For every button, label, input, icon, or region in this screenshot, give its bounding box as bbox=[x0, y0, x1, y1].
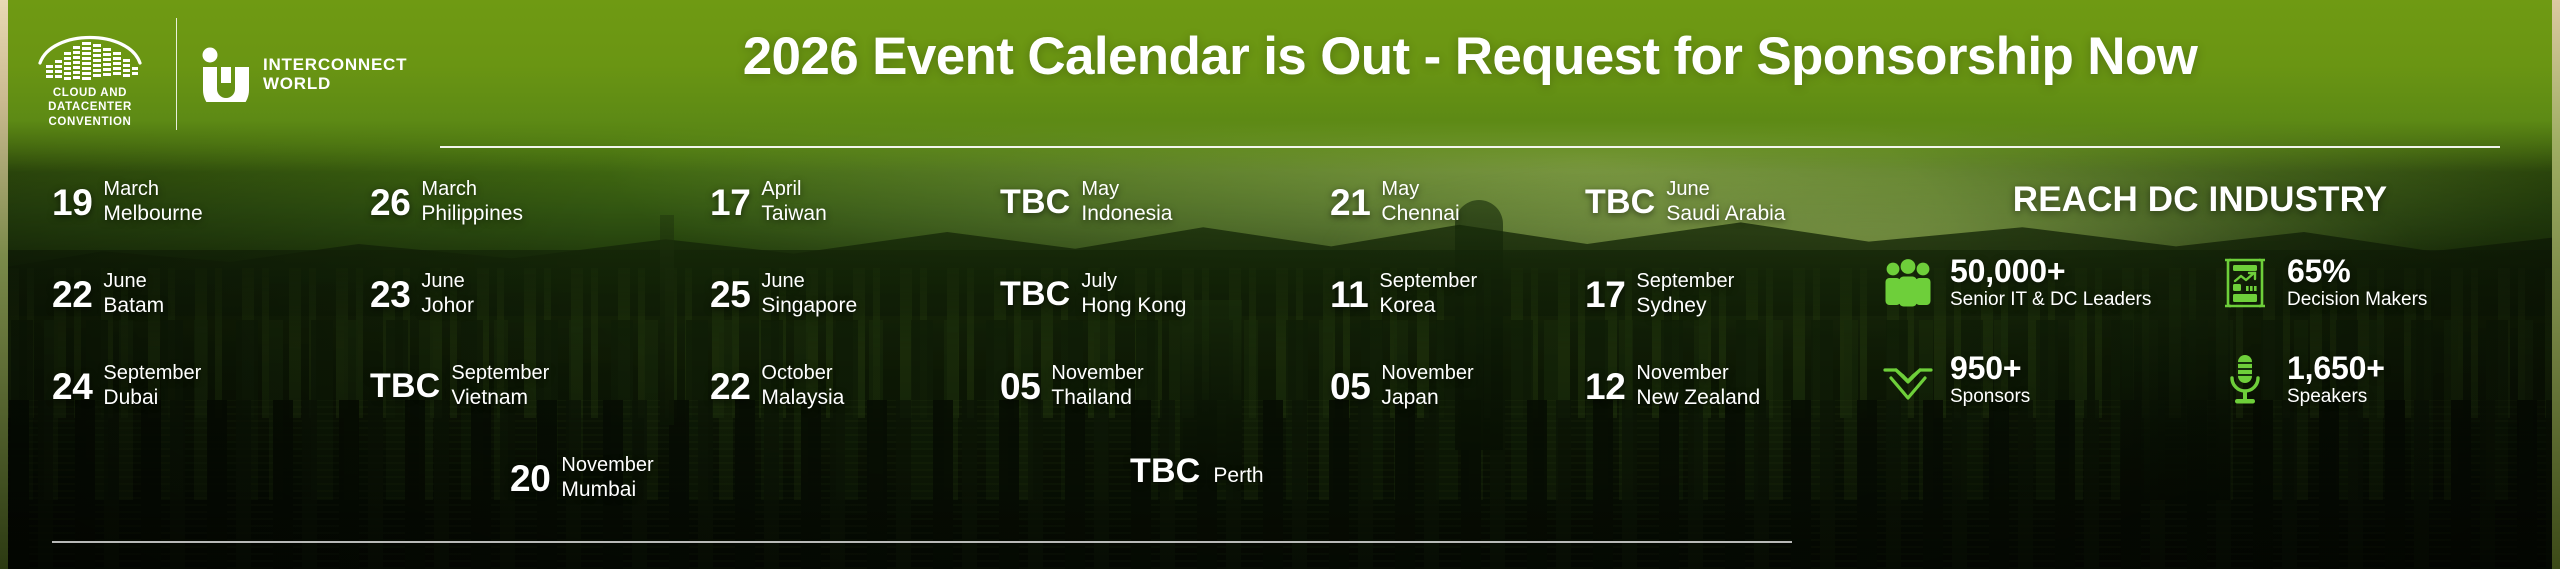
event-day: TBC bbox=[1585, 185, 1655, 219]
event-day: 11 bbox=[1330, 276, 1368, 313]
stat-value: 50,000+ bbox=[1950, 254, 2151, 289]
stat-label: Decision Makers bbox=[2287, 289, 2427, 312]
event-day: 05 bbox=[1000, 368, 1040, 405]
event-month: June bbox=[1666, 178, 1785, 202]
brand-lockup[interactable]: CLOUD AND DATACENTER CONVENTION INTERCON… bbox=[26, 18, 407, 130]
event-month: March bbox=[103, 178, 202, 202]
event-item[interactable]: 20 November Mumbai bbox=[510, 454, 654, 502]
event-month: June bbox=[761, 270, 857, 294]
event-day: 22 bbox=[710, 368, 750, 405]
calendar-row: 19 March Melbourne 26 March Philippines … bbox=[0, 178, 1860, 270]
event-day: 23 bbox=[370, 276, 410, 313]
calendar-row: 24 September Dubai TBC September Vietnam… bbox=[0, 362, 1860, 454]
event-item[interactable]: TBC July Hong Kong bbox=[1000, 270, 1186, 318]
event-item[interactable]: 22 June Batam bbox=[52, 270, 164, 318]
event-month: March bbox=[421, 178, 523, 202]
event-location: Indonesia bbox=[1081, 202, 1172, 227]
event-month: November bbox=[561, 454, 653, 478]
event-location: Taiwan bbox=[761, 202, 826, 227]
event-item[interactable]: 25 June Singapore bbox=[710, 270, 857, 318]
calendar-row: 20 November Mumbai TBC Perth bbox=[0, 454, 1860, 546]
event-day: 25 bbox=[710, 276, 750, 313]
event-item[interactable]: 19 March Melbourne bbox=[52, 178, 203, 226]
event-month: May bbox=[1081, 178, 1172, 202]
handshake-icon bbox=[1880, 357, 1936, 403]
event-calendar-grid: 19 March Melbourne 26 March Philippines … bbox=[0, 178, 1860, 546]
event-location: Sydney bbox=[1636, 294, 1734, 319]
event-day: TBC bbox=[370, 369, 440, 403]
event-day: TBC bbox=[1130, 454, 1200, 488]
event-day: TBC bbox=[1000, 185, 1070, 219]
event-item[interactable]: 23 June Johor bbox=[370, 270, 474, 318]
event-location: Melbourne bbox=[103, 202, 202, 227]
event-location: Dubai bbox=[103, 386, 201, 411]
cloud-datacenter-convention-logo[interactable]: CLOUD AND DATACENTER CONVENTION bbox=[26, 19, 154, 128]
stat-item: 1,650+ Speakers bbox=[2217, 351, 2520, 408]
event-location: Malaysia bbox=[761, 386, 844, 411]
stat-value: 950+ bbox=[1950, 351, 2030, 386]
event-location: Chennai bbox=[1381, 202, 1459, 227]
event-location: Japan bbox=[1381, 386, 1473, 411]
event-item[interactable]: TBC May Indonesia bbox=[1000, 178, 1172, 226]
stat-item: 950+ Sponsors bbox=[1880, 351, 2183, 408]
iw-line-1: INTERCONNECT bbox=[263, 55, 407, 74]
event-month: September bbox=[103, 362, 201, 386]
event-month: October bbox=[761, 362, 844, 386]
event-item[interactable]: 22 October Malaysia bbox=[710, 362, 844, 410]
event-item[interactable]: 11 September Korea bbox=[1330, 270, 1477, 318]
stats-grid: 50,000+ Senior IT & DC Leaders bbox=[1880, 254, 2520, 409]
interconnect-world-logo[interactable]: INTERCONNECT WORLD bbox=[199, 46, 407, 102]
event-month: April bbox=[761, 178, 826, 202]
event-day: TBC bbox=[1000, 277, 1070, 311]
event-month: May bbox=[1381, 178, 1459, 202]
event-day: 24 bbox=[52, 368, 92, 405]
stat-label: Speakers bbox=[2287, 386, 2385, 409]
stat-item: 65% Decision Makers bbox=[2217, 254, 2520, 311]
event-day: 22 bbox=[52, 276, 92, 313]
event-item[interactable]: 12 November New Zealand bbox=[1585, 362, 1760, 410]
stat-label: Senior IT & DC Leaders bbox=[1950, 289, 2151, 312]
iw-monogram-icon bbox=[199, 46, 253, 102]
event-location: Hong Kong bbox=[1081, 294, 1186, 319]
event-day: 12 bbox=[1585, 368, 1625, 405]
event-location: Korea bbox=[1379, 294, 1477, 319]
event-location: Perth bbox=[1213, 464, 1263, 489]
event-location: Singapore bbox=[761, 294, 857, 319]
event-item[interactable]: 21 May Chennai bbox=[1330, 178, 1460, 226]
event-day: 05 bbox=[1330, 368, 1370, 405]
event-day: 21 bbox=[1330, 184, 1370, 221]
calendar-row: 22 June Batam 23 June Johor 25 June Sing… bbox=[0, 270, 1860, 362]
event-location: Philippines bbox=[421, 202, 523, 227]
event-item[interactable]: 17 September Sydney bbox=[1585, 270, 1734, 318]
event-month: September bbox=[1636, 270, 1734, 294]
lockup-divider bbox=[176, 18, 177, 130]
event-item[interactable]: 17 April Taiwan bbox=[710, 178, 827, 226]
event-month: September bbox=[1379, 270, 1477, 294]
event-calendar-banner: CLOUD AND DATACENTER CONVENTION INTERCON… bbox=[0, 0, 2560, 569]
event-item[interactable]: 05 November Thailand bbox=[1000, 362, 1144, 410]
event-month: June bbox=[421, 270, 474, 294]
event-item[interactable]: 26 March Philippines bbox=[370, 178, 523, 226]
headline-underline bbox=[440, 146, 2500, 148]
stats-title: REACH DC INDUSTRY bbox=[1880, 180, 2520, 220]
iw-line-2: WORLD bbox=[263, 74, 407, 93]
event-item[interactable]: TBC September Vietnam bbox=[370, 362, 549, 410]
event-item[interactable]: TBC June Saudi Arabia bbox=[1585, 178, 1785, 226]
event-location: Johor bbox=[421, 294, 474, 319]
event-day: 17 bbox=[710, 184, 750, 221]
server-rack-icon bbox=[2217, 257, 2273, 309]
event-month: November bbox=[1636, 362, 1760, 386]
event-location: Mumbai bbox=[561, 478, 653, 503]
datacenter-skyline-arc-icon bbox=[34, 19, 146, 81]
event-day: 26 bbox=[370, 184, 410, 221]
iw-wordmark: INTERCONNECT WORLD bbox=[263, 55, 407, 93]
stat-label: Sponsors bbox=[1950, 386, 2030, 409]
event-item[interactable]: 24 September Dubai bbox=[52, 362, 201, 410]
cdc-wordmark: CLOUD AND DATACENTER CONVENTION bbox=[48, 86, 132, 128]
event-location: Thailand bbox=[1051, 386, 1143, 411]
event-item[interactable]: 05 November Japan bbox=[1330, 362, 1474, 410]
event-location: New Zealand bbox=[1636, 386, 1760, 411]
people-group-icon bbox=[1880, 259, 1936, 307]
event-day: 17 bbox=[1585, 276, 1625, 313]
stat-value: 1,650+ bbox=[2287, 351, 2385, 386]
event-month: September bbox=[451, 362, 549, 386]
cdc-line-3: CONVENTION bbox=[48, 115, 132, 129]
page-title: 2026 Event Calendar is Out - Request for… bbox=[440, 30, 2500, 84]
event-day: 20 bbox=[510, 460, 550, 497]
stat-value: 65% bbox=[2287, 254, 2427, 289]
event-month: November bbox=[1051, 362, 1143, 386]
cdc-line-1: CLOUD AND bbox=[48, 86, 132, 100]
stat-item: 50,000+ Senior IT & DC Leaders bbox=[1880, 254, 2183, 311]
cdc-line-2: DATACENTER bbox=[48, 100, 132, 114]
event-location: Saudi Arabia bbox=[1666, 202, 1785, 227]
event-month: June bbox=[103, 270, 164, 294]
event-month: July bbox=[1081, 270, 1186, 294]
event-location: Vietnam bbox=[451, 386, 549, 411]
event-location: Batam bbox=[103, 294, 164, 319]
reach-stats-panel: REACH DC INDUSTRY 50,000+ Senior IT & DC… bbox=[1880, 180, 2520, 409]
event-item[interactable]: TBC Perth bbox=[1130, 454, 1264, 489]
event-month: November bbox=[1381, 362, 1473, 386]
event-day: 19 bbox=[52, 184, 92, 221]
microphone-icon bbox=[2217, 353, 2273, 407]
